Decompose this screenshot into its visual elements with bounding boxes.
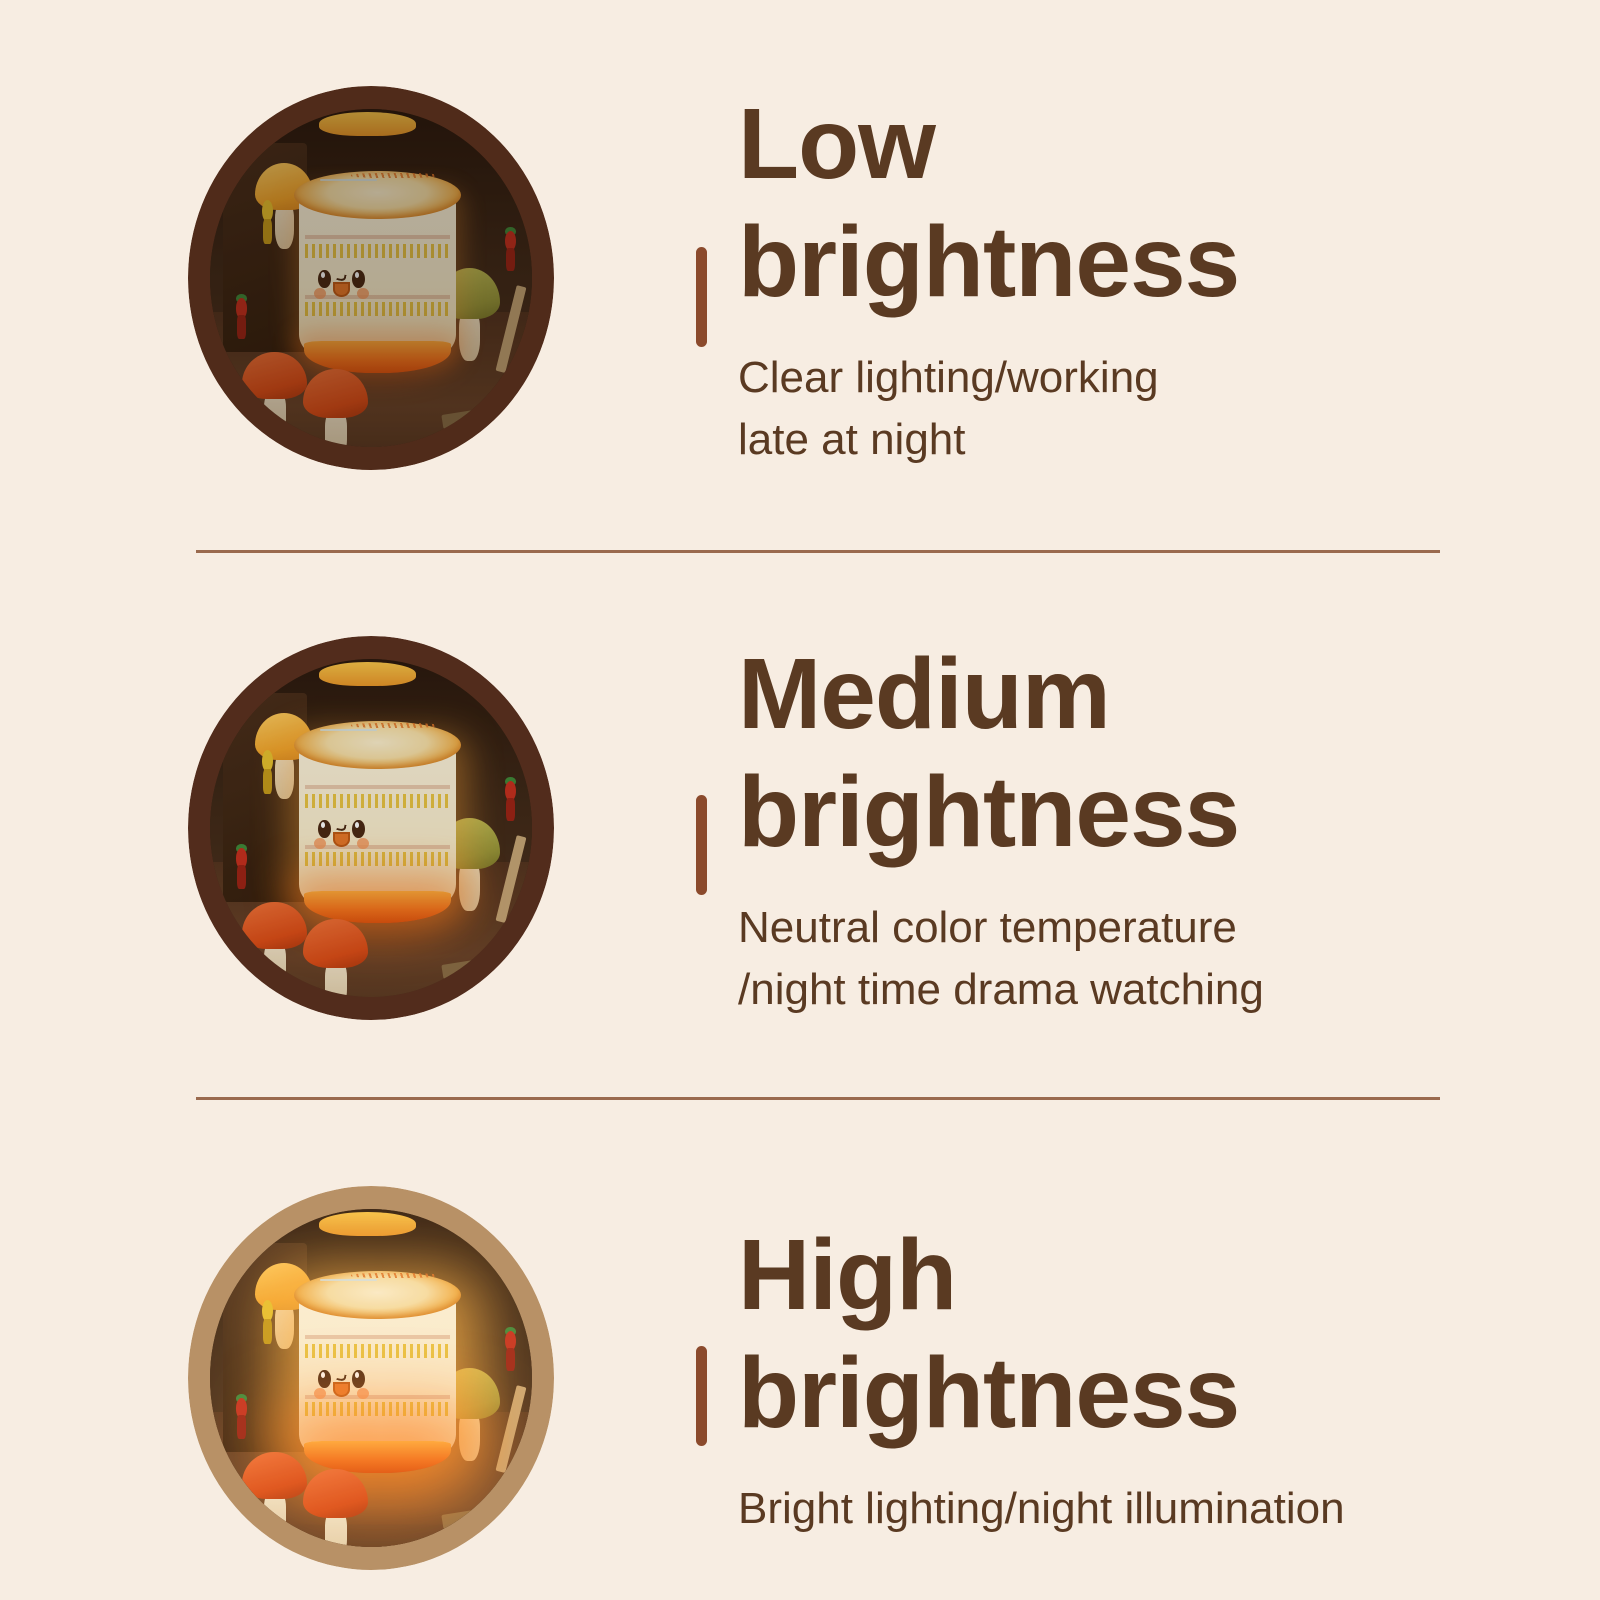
product-figure-medium	[188, 636, 556, 1020]
section-divider	[196, 550, 1440, 553]
product-scene-medium	[210, 659, 532, 997]
corn-figurine-icon	[258, 1300, 276, 1344]
accent-bar-low	[696, 247, 707, 347]
red-mushroom-icon	[242, 1452, 306, 1533]
noodle-cup-lamp	[294, 716, 461, 919]
corn-figurine-icon	[258, 200, 276, 244]
text-block-low: Low brightness Clear lighting/working la…	[696, 85, 1600, 472]
text-block-medium: Medium brightness Neutral color temperat…	[696, 635, 1600, 1022]
tomato-figurine-icon	[232, 298, 250, 339]
section-low-brightness: Low brightness Clear lighting/working la…	[0, 68, 1600, 488]
description-medium-brightness: Neutral color temperature /night time dr…	[738, 897, 1600, 1022]
tomato-figurine-icon	[501, 231, 519, 272]
text-block-high: High brightness Bright lighting/night il…	[696, 1216, 1600, 1540]
red-mushroom-icon	[303, 1469, 367, 1547]
product-circle-high	[188, 1186, 554, 1570]
heading-high-brightness: High brightness	[738, 1216, 1600, 1452]
red-mushroom-icon	[303, 369, 367, 447]
description-low-brightness: Clear lighting/working late at night	[738, 347, 1600, 472]
product-scene-high	[210, 1209, 532, 1547]
product-figure-high	[188, 1186, 556, 1570]
noodle-garnish-icon	[319, 112, 416, 136]
noodle-cup-lamp	[294, 166, 461, 369]
noodle-cup-lamp	[294, 1266, 461, 1469]
section-medium-brightness: Medium brightness Neutral color temperat…	[0, 618, 1600, 1038]
noodle-garnish-icon	[319, 1212, 416, 1236]
infographic-page: Low brightness Clear lighting/working la…	[0, 0, 1600, 1600]
product-circle-low	[188, 86, 554, 470]
description-high-brightness: Bright lighting/night illumination	[738, 1478, 1600, 1540]
red-mushroom-icon	[242, 352, 306, 433]
red-mushroom-icon	[303, 919, 367, 997]
heading-medium-brightness: Medium brightness	[738, 635, 1600, 871]
accent-bar-high	[696, 1346, 707, 1446]
tomato-figurine-icon	[501, 781, 519, 822]
heading-low-brightness: Low brightness	[738, 85, 1600, 321]
product-scene-low	[210, 109, 532, 447]
tomato-figurine-icon	[232, 848, 250, 889]
section-high-brightness: High brightness Bright lighting/night il…	[0, 1168, 1600, 1588]
kawaii-face-icon	[314, 1368, 399, 1410]
kawaii-face-icon	[314, 268, 399, 310]
product-figure-low	[188, 86, 556, 470]
noodle-garnish-icon	[319, 662, 416, 686]
section-divider	[196, 1097, 1440, 1100]
corn-figurine-icon	[258, 750, 276, 794]
red-mushroom-icon	[242, 902, 306, 983]
kawaii-face-icon	[314, 818, 399, 860]
tomato-figurine-icon	[232, 1398, 250, 1439]
tomato-figurine-icon	[501, 1331, 519, 1372]
accent-bar-medium	[696, 795, 707, 895]
product-circle-medium	[188, 636, 554, 1020]
